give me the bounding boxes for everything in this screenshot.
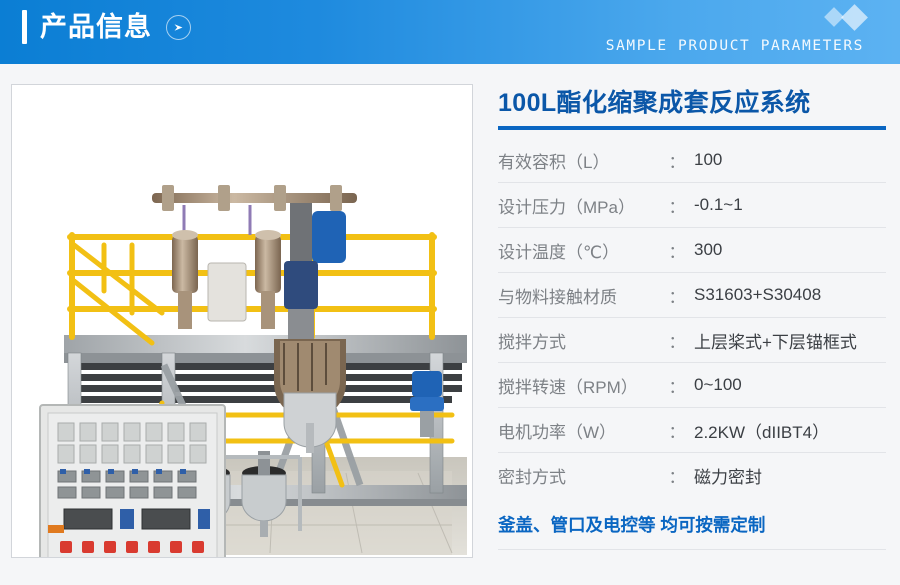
header-title-group: 产品信息 <box>22 10 191 44</box>
diamond-icon <box>841 4 868 31</box>
spec-colon: ： <box>660 238 694 263</box>
table-row: 设计压力（MPa） ： -0.1~1 <box>498 183 886 228</box>
spec-label: 搅拌转速（RPM） <box>498 373 660 398</box>
table-row: 电机功率（W） ： 2.2KW（dIIBT4） <box>498 408 886 453</box>
note-divider <box>498 549 886 550</box>
product-title: 100L酯化缩聚成套反应系统 <box>498 86 886 120</box>
spec-colon: ： <box>660 193 694 218</box>
spec-colon: ： <box>660 148 694 173</box>
table-row: 密封方式 ： 磁力密封 <box>498 453 886 498</box>
product-photo <box>11 84 473 558</box>
content-area: 100L酯化缩聚成套反应系统 有效容积（L） ： 100 设计压力（MPa） ：… <box>0 64 900 585</box>
spec-value: -0.1~1 <box>694 195 886 215</box>
spec-label: 搅拌方式 <box>498 328 660 353</box>
spec-label: 设计温度（℃） <box>498 238 660 263</box>
page-title: 产品信息 <box>40 10 152 44</box>
page-header: 产品信息 SAMPLE PRODUCT PARAMETERS <box>0 0 900 64</box>
header-right-group: SAMPLE PRODUCT PARAMETERS <box>460 0 880 64</box>
spec-label: 设计压力（MPa） <box>498 193 660 218</box>
spec-value: 上层桨式+下层锚框式 <box>694 328 886 353</box>
spec-colon: ： <box>660 373 694 398</box>
spec-label: 密封方式 <box>498 463 660 488</box>
table-row: 搅拌转速（RPM） ： 0~100 <box>498 363 886 408</box>
spec-value: 300 <box>694 240 886 260</box>
spec-value: 磁力密封 <box>694 463 886 488</box>
circle-arrow-right-icon[interactable] <box>166 15 191 40</box>
spec-value: 2.2KW（dIIBT4） <box>694 418 886 443</box>
table-row: 搅拌方式 ： 上层桨式+下层锚框式 <box>498 318 886 363</box>
spec-value: 100 <box>694 150 886 170</box>
spec-panel: 100L酯化缩聚成套反应系统 有效容积（L） ： 100 设计压力（MPa） ：… <box>498 86 886 550</box>
spec-label: 电机功率（W） <box>498 418 660 443</box>
spec-label: 有效容积（L） <box>498 148 660 173</box>
table-row: 设计温度（℃） ： 300 <box>498 228 886 273</box>
spec-table: 有效容积（L） ： 100 设计压力（MPa） ： -0.1~1 设计温度（℃）… <box>498 138 886 498</box>
table-row: 有效容积（L） ： 100 <box>498 138 886 183</box>
customization-note: 釜盖、管口及电控等 均可按需定制 <box>498 512 886 537</box>
spec-value: S31603+S30408 <box>694 285 886 305</box>
diamond-decoration <box>827 8 864 27</box>
table-row: 与物料接触材质 ： S31603+S30408 <box>498 273 886 318</box>
title-underline <box>498 126 886 130</box>
title-accent-rule <box>22 10 27 44</box>
spec-colon: ： <box>660 463 694 488</box>
spec-colon: ： <box>660 418 694 443</box>
spec-label: 与物料接触材质 <box>498 283 660 308</box>
header-subtitle: SAMPLE PRODUCT PARAMETERS <box>606 38 864 54</box>
spec-colon: ： <box>660 328 694 353</box>
spec-colon: ： <box>660 283 694 308</box>
spec-value: 0~100 <box>694 375 886 395</box>
